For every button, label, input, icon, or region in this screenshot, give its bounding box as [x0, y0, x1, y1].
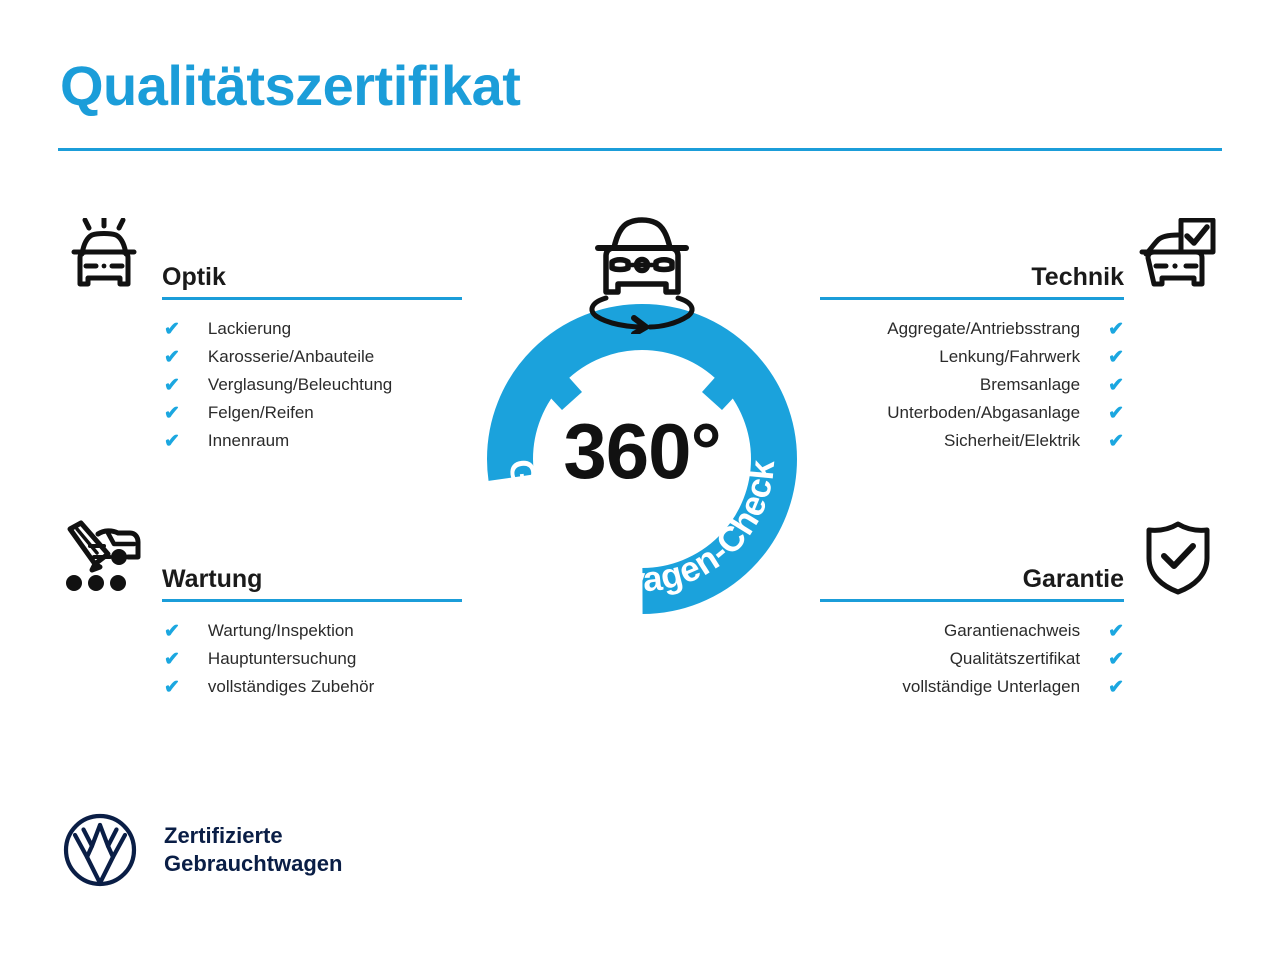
list-item-label: Qualitätszertifikat [950, 649, 1080, 669]
vw-footer-line2: Gebrauchtwagen [164, 850, 342, 878]
list-item-label: Sicherheit/Elektrik [944, 431, 1080, 451]
section-title: Technik [820, 264, 1124, 298]
car-rotate-icon [570, 214, 714, 334]
section-optik: Optik ✔Lackierung ✔Karosserie/Anbauteile… [58, 214, 462, 455]
list-item-label: Aggregate/Antriebsstrang [887, 319, 1080, 339]
car-checkbox-icon [1132, 214, 1224, 298]
list-item-label: Garantienachweis [944, 621, 1080, 641]
section-title-wrap: Optik [162, 264, 462, 301]
list-item-label: Hauptuntersuchung [208, 649, 356, 669]
list-item-label: vollständiges Zubehör [208, 677, 374, 697]
section-title: Optik [162, 264, 462, 298]
section-title-wrap: Wartung [162, 566, 462, 603]
section-title-wrap: Garantie [820, 566, 1124, 603]
section-title-wrap: Technik [820, 264, 1124, 301]
list-item: Lenkung/Fahrwerk✔ [820, 343, 1224, 371]
section-technik: Technik Aggregate/Antriebsstrang✔ Lenkun… [820, 214, 1224, 455]
checklist-garantie: Garantienachweis✔ Qualitätszertifikat✔ v… [820, 617, 1224, 701]
section-header: Optik [58, 214, 462, 300]
page-title: Qualitätszertifikat [60, 58, 520, 114]
check-icon: ✔ [1108, 678, 1124, 697]
vw-certified-footer: Zertifizierte Gebrauchtwagen [62, 812, 342, 888]
list-item: ✔vollständiges Zubehör [58, 673, 462, 701]
section-divider [820, 297, 1124, 300]
section-divider [162, 297, 462, 300]
car-front-shine-icon [58, 214, 150, 298]
list-item: Qualitätszertifikat✔ [820, 645, 1224, 673]
check-icon: ✔ [1108, 650, 1124, 669]
check-icon: ✔ [1108, 376, 1124, 395]
list-item: ✔Felgen/Reifen [58, 399, 462, 427]
list-item-label: Unterboden/Abgasanlage [887, 403, 1080, 423]
check-icon: ✔ [1108, 622, 1124, 641]
list-item: ✔Innenraum [58, 427, 462, 455]
pencil-car-service-icon [58, 516, 150, 600]
list-item: ✔Verglasung/Beleuchtung [58, 371, 462, 399]
list-item: Bremsanlage✔ [820, 371, 1224, 399]
check-icon: ✔ [164, 348, 180, 367]
check-icon: ✔ [1108, 348, 1124, 367]
section-wartung: Wartung ✔Wartung/Inspektion ✔Hauptunters… [58, 516, 462, 701]
list-item: Sicherheit/Elektrik✔ [820, 427, 1224, 455]
list-item-label: vollständige Unterlagen [902, 677, 1080, 697]
list-item: Garantienachweis✔ [820, 617, 1224, 645]
title-divider [58, 148, 1222, 151]
badge-360-gebrauchtwagen-check: Gebrauchtwagen-Check 360° [452, 214, 832, 644]
list-item: vollständige Unterlagen✔ [820, 673, 1224, 701]
badge-value: 360° [452, 412, 832, 490]
list-item-label: Karosserie/Anbauteile [208, 347, 374, 367]
list-item: Unterboden/Abgasanlage✔ [820, 399, 1224, 427]
section-divider [820, 599, 1124, 602]
list-item-label: Felgen/Reifen [208, 403, 314, 423]
list-item: ✔Hauptuntersuchung [58, 645, 462, 673]
check-icon: ✔ [164, 404, 180, 423]
list-item-label: Bremsanlage [980, 375, 1080, 395]
list-item-label: Wartung/Inspektion [208, 621, 354, 641]
shield-check-icon [1132, 516, 1224, 600]
checklist-wartung: ✔Wartung/Inspektion ✔Hauptuntersuchung ✔… [58, 617, 462, 701]
vw-footer-text: Zertifizierte Gebrauchtwagen [164, 822, 342, 878]
quality-certificate-page: Qualitätszertifikat Optik [0, 0, 1280, 960]
list-item-label: Lackierung [208, 319, 291, 339]
section-header: Wartung [58, 516, 462, 602]
check-icon: ✔ [1108, 320, 1124, 339]
list-item: ✔Lackierung [58, 315, 462, 343]
list-item-label: Lenkung/Fahrwerk [939, 347, 1080, 367]
section-title: Wartung [162, 566, 462, 600]
section-garantie: Garantie Garantienachweis✔ Qualitätszert… [820, 516, 1224, 701]
check-icon: ✔ [164, 678, 180, 697]
section-header: Garantie [820, 516, 1224, 602]
check-icon: ✔ [164, 650, 180, 669]
list-item: ✔Karosserie/Anbauteile [58, 343, 462, 371]
vw-logo [62, 812, 138, 888]
check-icon: ✔ [164, 432, 180, 451]
check-icon: ✔ [164, 320, 180, 339]
section-header: Technik [820, 214, 1224, 300]
list-item: Aggregate/Antriebsstrang✔ [820, 315, 1224, 343]
list-item: ✔Wartung/Inspektion [58, 617, 462, 645]
section-divider [162, 599, 462, 602]
vw-footer-line1: Zertifizierte [164, 822, 342, 850]
check-icon: ✔ [1108, 404, 1124, 423]
list-item-label: Innenraum [208, 431, 289, 451]
check-icon: ✔ [164, 622, 180, 641]
section-title: Garantie [820, 566, 1124, 600]
checklist-technik: Aggregate/Antriebsstrang✔ Lenkung/Fahrwe… [820, 315, 1224, 455]
checklist-optik: ✔Lackierung ✔Karosserie/Anbauteile ✔Verg… [58, 315, 462, 455]
list-item-label: Verglasung/Beleuchtung [208, 375, 392, 395]
check-icon: ✔ [1108, 432, 1124, 451]
check-icon: ✔ [164, 376, 180, 395]
